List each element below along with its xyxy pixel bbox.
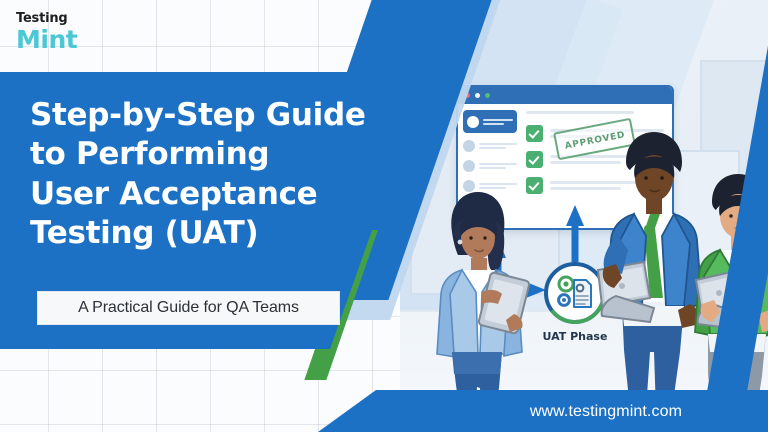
brand-logo-line-2: Mint [16, 27, 77, 52]
page-title-line: Step-by-Step Guide [30, 96, 422, 135]
brand-logo[interactable]: Testing Mint [16, 12, 77, 52]
page-title-line: Testing (UAT) [30, 214, 422, 253]
arrow-up-center-head-icon [566, 205, 584, 226]
page-title-line: to Performing [30, 135, 422, 174]
brand-logo-line-1: Testing [16, 12, 77, 26]
subtitle-badge: A Practical Guide for QA Teams [37, 291, 340, 325]
page-title: Step-by-Step Guide to Performing User Ac… [30, 96, 422, 253]
footer-url[interactable]: www.testingmint.com [530, 403, 682, 421]
page-title-line: User Acceptance [30, 175, 422, 214]
blog-banner: APPROVED [0, 0, 768, 432]
subtitle-label: A Practical Guide for QA Teams [78, 299, 299, 317]
